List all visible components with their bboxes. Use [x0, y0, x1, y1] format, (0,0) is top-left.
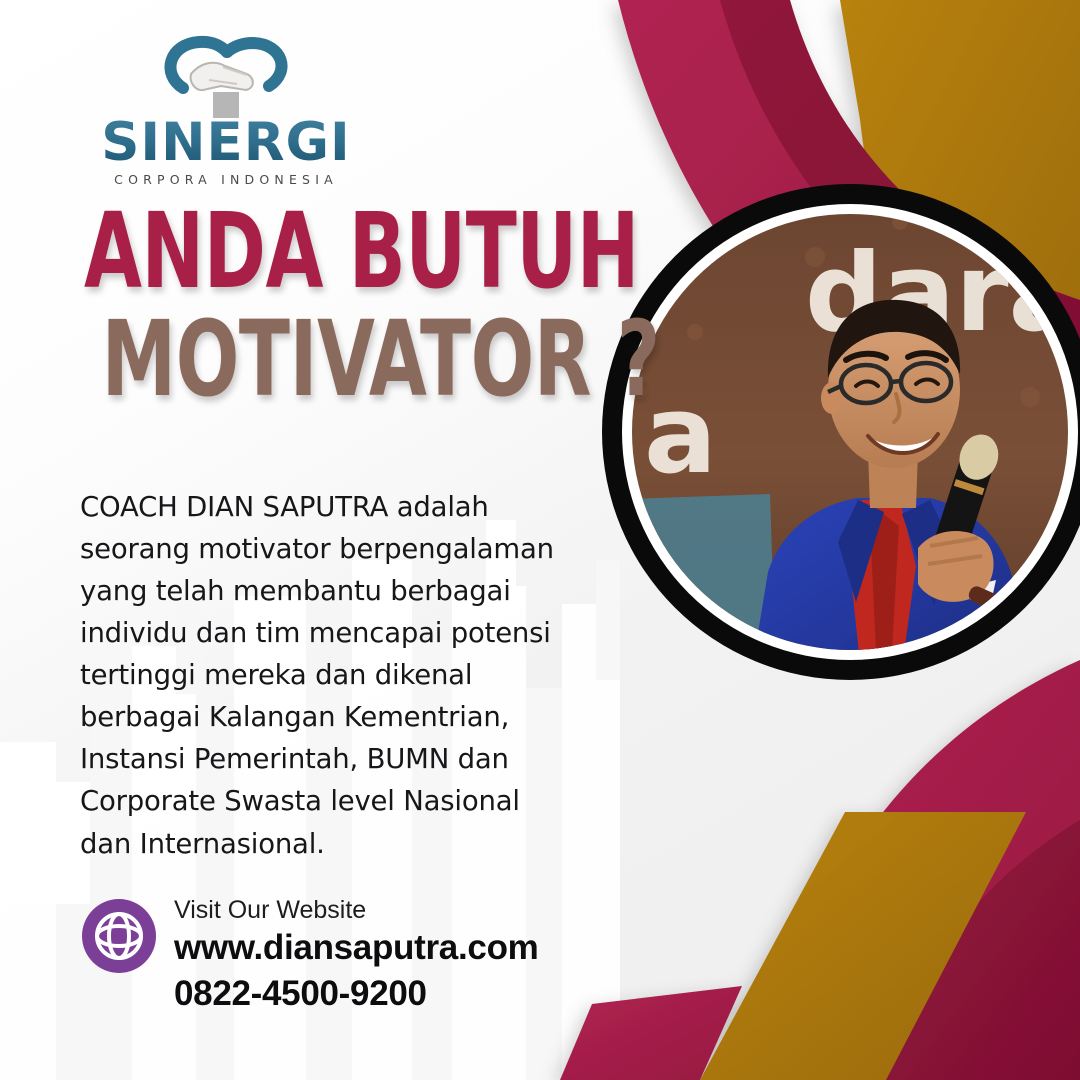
visit-label: Visit Our Website [174, 895, 538, 926]
contact-block: Visit Our Website www.diansaputra.com 08… [82, 893, 538, 1016]
globe-icon [82, 899, 156, 973]
handshake-icon [151, 34, 301, 122]
phone-number[interactable]: 0822-4500-9200 [174, 972, 538, 1016]
poster-canvas: SINERGI CORPORA INDONESIA ANDA BUTUH MOT… [0, 0, 1080, 1080]
ribbon-bottom-right [560, 660, 1080, 1080]
body-description: COACH DIAN SAPUTRA adalah seorang motiva… [80, 486, 572, 865]
logo-tagline: CORPORA INDONESIA [96, 172, 356, 187]
website-link[interactable]: www.diansaputra.com [174, 926, 538, 970]
headline-line-2: MOTIVATOR ? [84, 310, 660, 410]
logo-wordmark: SINERGI [96, 116, 356, 169]
brand-logo: SINERGI CORPORA INDONESIA [96, 34, 356, 187]
page-title: ANDA BUTUH MOTIVATOR ? [84, 202, 804, 410]
headline-line-1: ANDA BUTUH [84, 202, 660, 302]
